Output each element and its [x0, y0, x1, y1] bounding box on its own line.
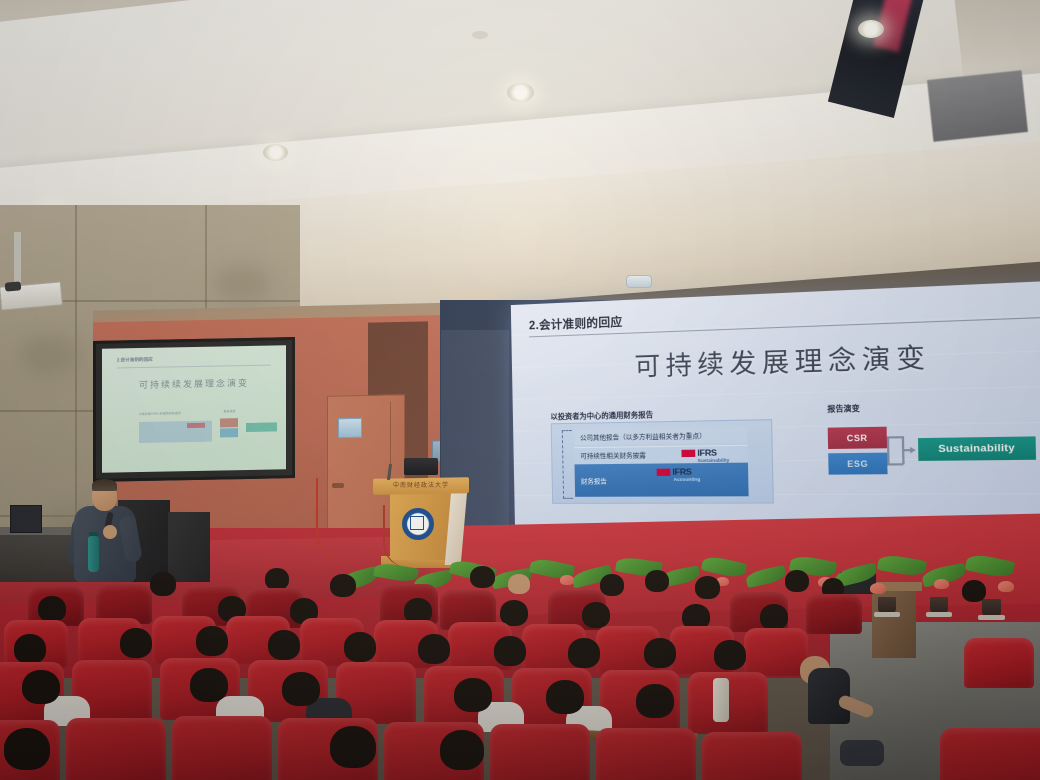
audience-head — [470, 566, 495, 588]
audience-head — [330, 574, 356, 597]
slide-header: 2.会计准则的回应 — [529, 294, 1040, 336]
projected-slide-ifrs-mark — [187, 422, 205, 427]
projector-mount — [14, 232, 21, 288]
audience-head — [344, 632, 376, 662]
projection-screen: 2.会计准则的回应 可持续续发展理念演变 以投资者为中心的通用财务报告 报告演变 — [93, 337, 295, 482]
audience-head — [785, 570, 809, 592]
projected-slide-csr-box — [220, 418, 238, 427]
projected-slide-title: 可持续续发展理念演变 — [102, 375, 286, 392]
ifrs-sustainability-logo: IFRS — [681, 447, 716, 458]
auditorium-seat[interactable] — [66, 718, 166, 780]
slide-right-diagram-label: 报告演变 — [827, 403, 860, 414]
audience-head — [418, 634, 450, 664]
audience-head — [636, 684, 674, 718]
projected-slide-rule — [117, 364, 272, 368]
audience-head — [150, 572, 176, 596]
projected-slide-label-left: 以投资者为中心的通用财务报告 — [139, 412, 181, 417]
slide-header-text: 2.会计准则的回应 — [529, 316, 623, 332]
projected-slide-header: 2.会计准则的回应 — [117, 356, 153, 363]
ifrs-mark-icon — [681, 449, 695, 456]
audience-head — [600, 574, 624, 596]
diagram-row: 公司其他报告（以多方利益相关者为重点） — [574, 427, 748, 445]
presenter-hand — [103, 525, 117, 539]
av-monitor — [10, 505, 42, 533]
audience-head — [454, 678, 492, 712]
projected-slide-label-right: 报告演变 — [223, 409, 235, 413]
auditorium-seat[interactable] — [490, 724, 590, 780]
audience-head — [4, 728, 50, 770]
stone-texture — [215, 265, 270, 303]
arrow-icon — [910, 447, 916, 454]
audience-head — [330, 726, 376, 768]
slide-title: 可持续发展理念演变 — [512, 331, 1040, 387]
audience-head — [714, 640, 746, 670]
audience-head — [508, 574, 530, 594]
audience-head — [645, 570, 669, 592]
podium-front-text: 中南财经政法大学 — [378, 480, 464, 489]
audience-head — [546, 680, 584, 714]
water-bottle — [713, 678, 729, 722]
ifrs-mark-icon — [657, 468, 671, 475]
auditorium-seat[interactable] — [596, 728, 696, 780]
projector-lens-icon — [5, 281, 22, 291]
ceiling-emitter-plate — [626, 275, 652, 288]
audience-head — [568, 638, 600, 668]
recessed-downlight — [507, 83, 534, 102]
recessed-downlight — [858, 20, 884, 38]
presenter-hair — [92, 479, 117, 491]
audience-head — [120, 628, 152, 658]
projected-slide-esg-box — [220, 428, 238, 437]
audience-head — [644, 638, 676, 668]
sustainability-box: Sustainability — [918, 436, 1036, 461]
auditorium-seat[interactable] — [806, 594, 862, 634]
diagram-bracket — [562, 430, 573, 499]
auditorium-seat[interactable] — [172, 716, 272, 780]
recessed-downlight — [263, 144, 288, 161]
audience-head — [196, 626, 228, 656]
stone-texture — [20, 335, 80, 375]
ifrs-accounting-logo: IFRS — [657, 466, 692, 477]
esg-box: ESG — [828, 453, 887, 475]
projected-slide-sustainability-box — [246, 422, 277, 431]
auditorium-seat[interactable] — [940, 728, 1040, 780]
connector-line — [887, 436, 889, 464]
ifrs-logo-subtitle: Sustainability — [697, 458, 729, 464]
audience-head — [695, 576, 720, 599]
audience-head — [440, 730, 484, 770]
auditorium-seat[interactable] — [702, 732, 802, 780]
audience-head — [14, 634, 46, 664]
ceiling-slot-panel — [927, 70, 1028, 142]
ifrs-logo-word: IFRS — [697, 447, 717, 458]
auditorium-seat[interactable] — [744, 628, 808, 676]
audience-head — [962, 580, 986, 602]
audience-head — [494, 636, 526, 666]
university-crest-inner — [410, 516, 424, 530]
audience-head — [265, 568, 289, 590]
slide-left-diagram: 公司其他报告（以多方利益相关者为重点） 可持续性相关财务披露 财务报告 IFRS… — [551, 419, 774, 504]
connector-line — [887, 436, 903, 438]
podium-laptop — [404, 458, 438, 475]
audience-head — [190, 668, 228, 702]
backpack — [840, 740, 884, 766]
audience-rows — [0, 560, 1040, 780]
audience-head — [282, 672, 320, 706]
connector-line — [887, 463, 903, 465]
ceiling-smoke-detector — [472, 31, 488, 39]
audience-head — [582, 602, 610, 628]
slide-left-diagram-label: 以投资者为中心的通用财务报告 — [550, 410, 653, 422]
presentation-slide: 2.会计准则的回应 可持续发展理念演变 以投资者为中心的通用财务报告 公司其他报… — [511, 280, 1040, 540]
door-sign — [338, 418, 362, 439]
auditorium-photo: 2.会计准则的回应 可持续续发展理念演变 以投资者为中心的通用财务报告 报告演变… — [0, 0, 1040, 780]
csr-box: CSR — [828, 427, 887, 449]
ifrs-logo-word: IFRS — [672, 466, 691, 477]
audience-head — [22, 670, 60, 704]
audience-head — [760, 604, 788, 630]
audience-head — [38, 596, 66, 622]
auditorium-seat[interactable] — [964, 638, 1034, 688]
audience-head — [268, 630, 300, 660]
ifrs-logo-subtitle: Accounting — [674, 477, 701, 482]
projection-screen-surface: 2.会计准则的回应 可持续续发展理念演变 以投资者为中心的通用财务报告 报告演变 — [102, 345, 286, 473]
projected-slide: 2.会计准则的回应 可持续续发展理念演变 以投资者为中心的通用财务报告 报告演变 — [102, 345, 286, 473]
